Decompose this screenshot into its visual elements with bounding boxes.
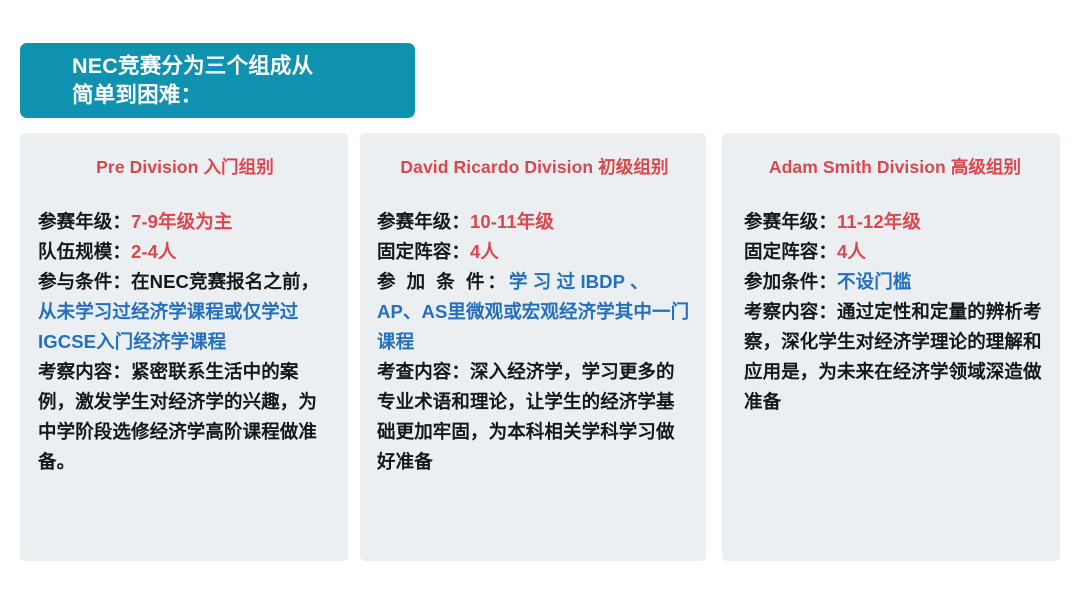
division-card-david-ricardo[interactable]: David Ricardo Division 初级组别 参赛年级：10-11年级…	[360, 133, 706, 561]
row-grade-adam: 参赛年级：11-12年级	[744, 207, 1046, 237]
row-grade-value-adam: 11-12年级	[837, 211, 921, 232]
row-requirement-david: 参 加 条 件：学 习 过 IBDP 、AP、AS里微观或宏观经济学其中一门课程	[377, 267, 692, 357]
division-card-pre[interactable]: Pre Division 入门组别 参赛年级：7-9年级为主 队伍规模：2-4人…	[20, 133, 348, 561]
card-body-david-ricardo: 参赛年级：10-11年级 固定阵容：4人 参 加 条 件：学 习 过 IBDP …	[377, 207, 692, 477]
row-requirement-pre: 参与条件：在NEC竞赛报名之前，从未学习过经济学课程或仅学过IGCSE入门经济学…	[38, 267, 332, 357]
row-grade-value-pre: 7-9年级为主	[131, 211, 232, 232]
card-body-adam-smith: 参赛年级：11-12年级 固定阵容：4人 参加条件：不设门槛 考察内容：通过定性…	[744, 207, 1046, 417]
row-content-pre: 考察内容：紧密联系生活中的案例，激发学生对经济学的兴趣，为中学阶段选修经济学高阶…	[38, 357, 332, 477]
row-team-label-david: 固定阵容：	[377, 241, 470, 262]
row-team-value-david: 4人	[470, 241, 499, 262]
row-requirement-highlight-pre: 从未学习过经济学课程或仅学过IGCSE入门经济学课程	[38, 301, 298, 352]
row-requirement-highlight-adam: 不设门槛	[837, 271, 911, 292]
row-grade-value-david: 10-11年级	[470, 211, 554, 232]
row-grade-label-adam: 参赛年级：	[744, 211, 837, 232]
division-card-row: Pre Division 入门组别 参赛年级：7-9年级为主 队伍规模：2-4人…	[0, 133, 1080, 561]
row-content-label-pre: 考察内容：	[38, 361, 131, 382]
row-team-pre: 队伍规模：2-4人	[38, 237, 332, 267]
row-content-label-adam: 考察内容：	[744, 301, 837, 322]
card-body-pre: 参赛年级：7-9年级为主 队伍规模：2-4人 参与条件：在NEC竞赛报名之前，从…	[38, 207, 332, 477]
row-team-david: 固定阵容：4人	[377, 237, 692, 267]
row-team-value-pre: 2-4人	[131, 241, 177, 262]
row-requirement-plain-pre: 在NEC竞赛报名之前，	[131, 271, 319, 292]
row-grade-pre: 参赛年级：7-9年级为主	[38, 207, 332, 237]
row-requirement-label-adam: 参加条件：	[744, 271, 837, 292]
row-content-david: 考查内容：深入经济学，学习更多的专业术语和理论，让学生的经济学基础更加牢固，为本…	[377, 357, 692, 477]
slide-canvas: NEC竞赛分为三个组成从 简单到困难： Pre Division 入门组别 参赛…	[0, 0, 1080, 608]
row-requirement-adam: 参加条件：不设门槛	[744, 267, 1046, 297]
row-grade-label-pre: 参赛年级：	[38, 211, 131, 232]
row-team-label-pre: 队伍规模：	[38, 241, 131, 262]
row-team-adam: 固定阵容：4人	[744, 237, 1046, 267]
division-card-adam-smith[interactable]: Adam Smith Division 高级组别 参赛年级：11-12年级 固定…	[722, 133, 1060, 561]
card-title-adam-smith: Adam Smith Division 高级组别	[744, 154, 1046, 179]
banner-headline: NEC竞赛分为三个组成从 简单到困难：	[20, 43, 415, 118]
row-grade-david: 参赛年级：10-11年级	[377, 207, 692, 237]
row-content-label-david: 考查内容：	[377, 361, 470, 382]
row-team-value-adam: 4人	[837, 241, 866, 262]
row-requirement-label-pre: 参与条件：	[38, 271, 131, 292]
banner-text: NEC竞赛分为三个组成从 简单到困难：	[72, 52, 415, 110]
row-grade-label-david: 参赛年级：	[377, 211, 470, 232]
card-title-pre: Pre Division 入门组别	[38, 154, 332, 179]
row-requirement-label-david: 参 加 条 件：	[377, 271, 509, 292]
card-title-david-ricardo: David Ricardo Division 初级组别	[377, 154, 692, 179]
row-content-adam: 考察内容：通过定性和定量的辨析考察，深化学生对经济学理论的理解和应用是，为未来在…	[744, 297, 1046, 417]
row-team-label-adam: 固定阵容：	[744, 241, 837, 262]
